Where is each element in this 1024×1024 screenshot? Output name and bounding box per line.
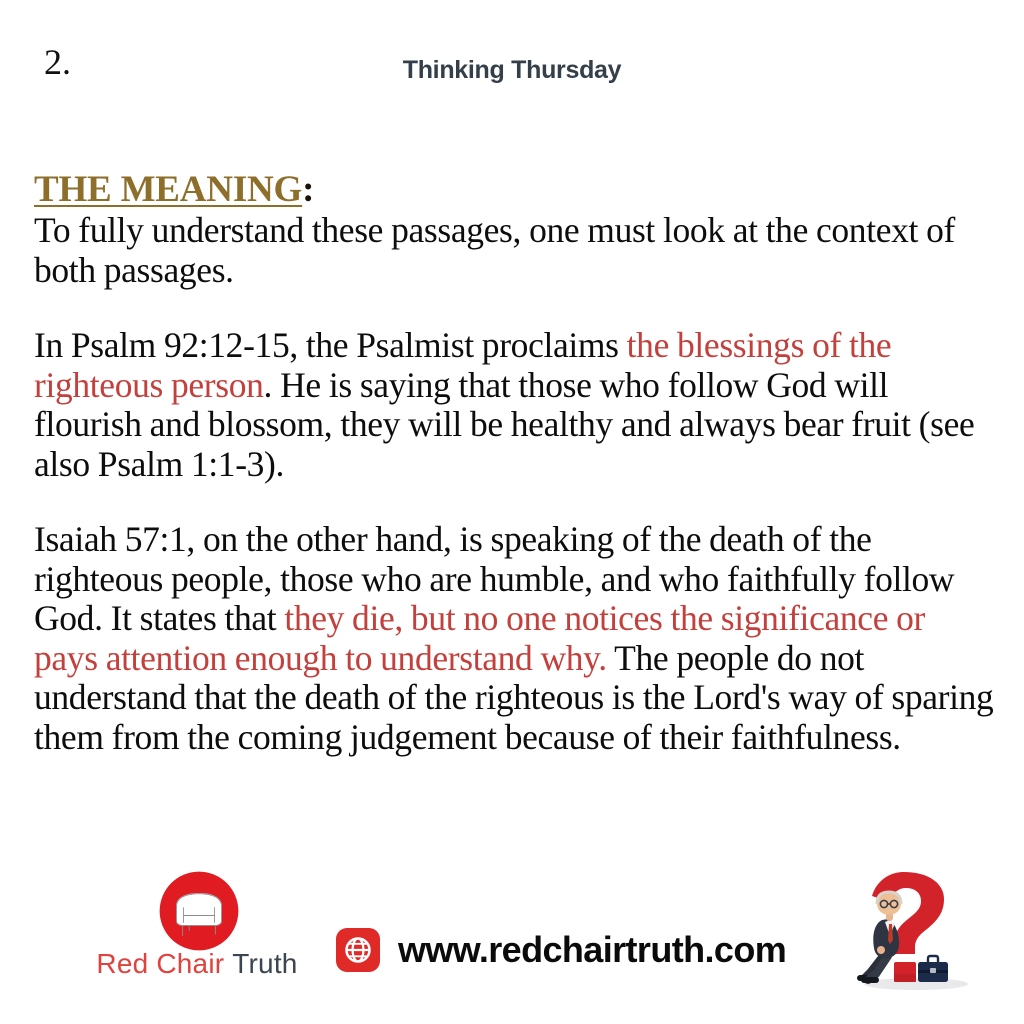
brand-word-one: Red Chair [96,948,224,979]
page-header: 2. Thinking Thursday [0,0,1024,110]
section-heading: THE MEANING: [34,170,994,209]
globe-icon [336,928,380,972]
brand-lockup[interactable]: Red Chair Truth [62,870,332,986]
section-heading-colon: : [302,169,314,210]
website-link[interactable]: www.redchairtruth.com [336,928,786,972]
slide-page: 2. Thinking Thursday THE MEANING: To ful… [0,0,1024,1024]
page-footer: Red Chair Truth www.redchairtruth.com [0,844,1024,1024]
paragraph-3: Isaiah 57:1, on the other hand, is speak… [34,520,994,757]
text-run: In Psalm 92:12-15, the Psalmist proclaim… [34,325,627,365]
paragraph-1: To fully understand these passages, one … [34,211,994,290]
series-title: Thinking Thursday [0,56,1024,85]
brand-wordmark: Red Chair Truth [62,948,332,980]
website-url-text: www.redchairtruth.com [398,929,786,971]
section-heading-text: THE MEANING [34,169,302,210]
text-run: To fully understand these passages, one … [34,210,955,290]
paragraph-2: In Psalm 92:12-15, the Psalmist proclaim… [34,326,994,484]
content-body: THE MEANING: To fully understand these p… [34,170,994,757]
brand-word-two: Truth [232,948,297,979]
red-chair-circle-logo-icon [158,870,240,952]
question-mark-with-seated-businessman-icon [838,862,988,1002]
